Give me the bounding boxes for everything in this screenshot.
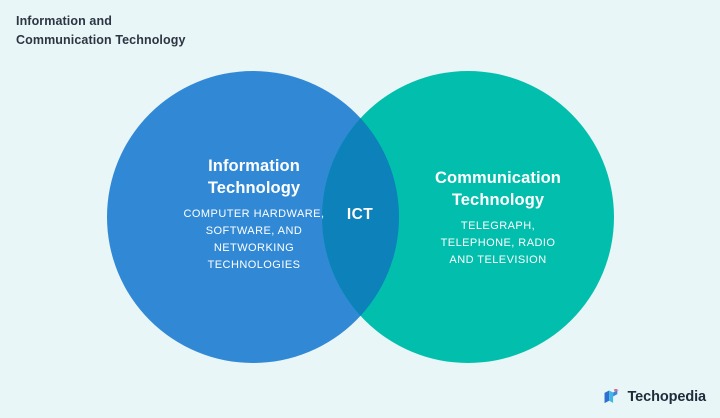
- venn-label-right-body-line-3: AND TELEVISION: [384, 252, 612, 269]
- venn-label-left-body-line-4: TECHNOLOGIES: [128, 257, 380, 274]
- diagram-canvas: Information and Communication Technology…: [0, 0, 720, 418]
- techopedia-logo: Techopedia: [602, 387, 707, 406]
- venn-label-right-heading: Communication Technology: [384, 167, 612, 211]
- venn-label-right-body: TELEGRAPH, TELEPHONE, RADIO AND TELEVISI…: [384, 218, 612, 269]
- techopedia-cube-icon: [602, 387, 621, 406]
- venn-label-communication-technology: Communication Technology TELEGRAPH, TELE…: [384, 167, 612, 269]
- techopedia-wordmark: Techopedia: [628, 389, 707, 405]
- venn-label-left-heading-line-1: Information: [208, 157, 300, 175]
- venn-label-right-body-line-2: TELEPHONE, RADIO: [384, 235, 612, 252]
- venn-label-left-heading-line-2: Technology: [208, 179, 300, 197]
- venn-label-left-heading: Information Technology: [128, 155, 380, 199]
- venn-label-right-body-line-1: TELEGRAPH,: [384, 218, 612, 235]
- venn-label-left-body-line-3: NETWORKING: [128, 240, 380, 257]
- venn-label-right-heading-line-2: Technology: [452, 191, 544, 209]
- venn-label-right-heading-line-1: Communication: [435, 169, 561, 187]
- venn-label-left-body-line-2: SOFTWARE, AND: [128, 223, 380, 240]
- venn-label-intersection-ict: ICT: [320, 206, 400, 224]
